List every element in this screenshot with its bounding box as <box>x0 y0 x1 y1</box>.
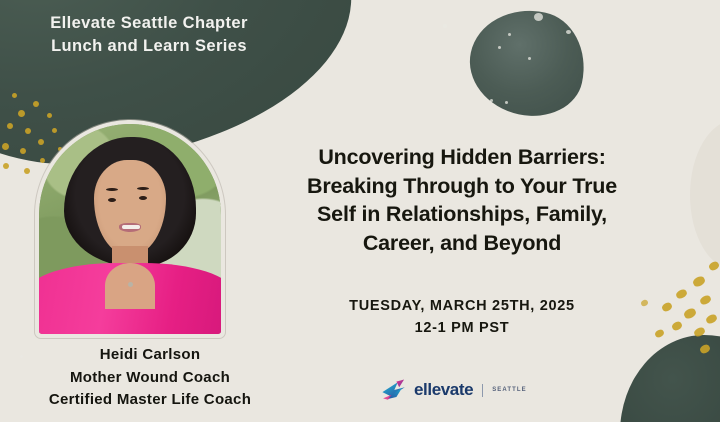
confetti-dot <box>3 163 9 169</box>
event-time: 12-1 PM PST <box>258 318 666 340</box>
confetti-dot <box>47 113 52 118</box>
speck <box>505 101 508 104</box>
confetti-dot <box>683 307 698 321</box>
confetti-dot <box>693 326 706 338</box>
event-datetime: TUESDAY, MARCH 25TH, 2025 12-1 PM PST <box>258 296 666 340</box>
speaker-title-1: Mother Wound Coach <box>0 367 300 390</box>
event-title-line3: Self in Relationships, Family, <box>258 200 666 229</box>
speaker-title-2: Certified Master Life Coach <box>0 389 300 412</box>
confetti-dot <box>25 128 31 134</box>
logo-wordmark: ellevate <box>414 380 473 400</box>
logo-divider <box>482 384 483 397</box>
event-date: TUESDAY, MARCH 25TH, 2025 <box>258 296 666 318</box>
confetti-dot <box>699 294 712 306</box>
confetti-dot <box>699 343 712 355</box>
speck <box>490 99 493 102</box>
event-title-line1: Uncovering Hidden Barriers: <box>258 143 666 172</box>
confetti-dot <box>24 168 30 174</box>
event-title-line2: Breaking Through to Your True <box>258 172 666 201</box>
ellevate-logo: ellevate SEATTLE <box>381 372 541 408</box>
speck <box>534 13 543 21</box>
green-blob-top-right <box>460 0 594 126</box>
speaker-photo <box>39 124 221 334</box>
confetti-dot <box>7 123 13 129</box>
photo-necklace <box>128 282 133 287</box>
confetti-dot <box>2 143 9 150</box>
speaker-credentials: Heidi Carlson Mother Wound Coach Certifi… <box>0 344 300 412</box>
cream-blob-right-edge <box>690 120 720 270</box>
event-title-line4: Career, and Beyond <box>258 229 666 258</box>
speck <box>498 46 501 49</box>
confetti-dot <box>33 101 39 107</box>
confetti-dot <box>18 110 25 117</box>
logo-city-label: SEATTLE <box>492 387 527 393</box>
confetti-dot <box>692 275 707 289</box>
photo-eye-left <box>108 198 116 202</box>
speaker-photo-frame <box>35 120 225 338</box>
confetti-dot <box>708 260 720 272</box>
chapter-heading-line1: Ellevate Seattle Chapter <box>14 12 284 35</box>
photo-teeth <box>122 225 140 229</box>
speck <box>443 24 447 28</box>
bird-icon <box>381 378 409 402</box>
speck <box>508 33 511 36</box>
confetti-dot <box>20 148 26 154</box>
speck <box>528 57 531 60</box>
speaker-name: Heidi Carlson <box>0 344 300 367</box>
speck <box>566 30 571 34</box>
confetti-dot <box>705 313 718 325</box>
chapter-heading: Ellevate Seattle Chapter Lunch and Learn… <box>14 12 284 59</box>
event-promo-poster: Ellevate Seattle Chapter Lunch and Learn… <box>0 0 720 422</box>
confetti-dot <box>12 93 17 98</box>
chapter-heading-line2: Lunch and Learn Series <box>14 35 284 58</box>
event-title: Uncovering Hidden Barriers: Breaking Thr… <box>258 143 666 257</box>
confetti-dot <box>675 288 688 300</box>
confetti-dot <box>671 320 684 332</box>
